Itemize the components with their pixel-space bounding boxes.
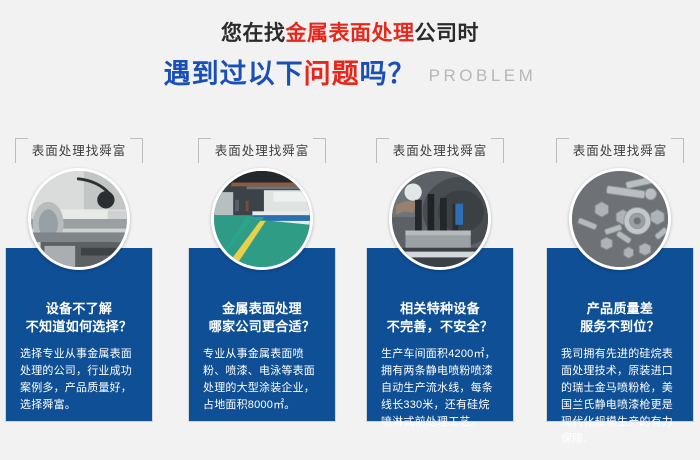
header-line1-prefix: 您在找 (221, 22, 286, 45)
card-title-line2: 不知道如何选择？ (16, 318, 142, 336)
header-line2-highlight: 问题 (304, 59, 360, 89)
card-title-line2: 服务不到位？ (557, 318, 683, 336)
bracket-label-text: 表面处理找舜富 (550, 142, 690, 160)
header-title-line2: 遇到过以下问题吗？PROBLEM (0, 57, 700, 93)
card-title-line1: 产品质量差 (557, 300, 683, 318)
bracket-label-text: 表面处理找舜富 (192, 142, 332, 160)
card-panel: 相关特种设备 不完善，不安全？ 生产车间面积4200㎡，拥有两条静电喷粉喷漆自动… (366, 248, 514, 422)
card-body-text: 专业从事金属表面喷粉、喷漆、电泳等表面处理的大型涂装企业，占地面积8000㎡。 (199, 346, 325, 414)
bracket-label-text: 表面处理找舜富 (9, 142, 149, 160)
card-title-line1: 相关特种设备 (377, 300, 503, 318)
problem-cards-row: 表面处理找舜富 设备不了解 不知道如何选择？ 选择专业从事金属表面处理的公司，行… (0, 136, 700, 436)
card-panel: 产品质量差 服务不到位？ 我司拥有先进的硅烷表面处理技术，原装进口的瑞士金马喷粉… (546, 248, 694, 422)
factory-workshop-image (214, 171, 310, 267)
card-title-line1: 金属表面处理 (199, 300, 325, 318)
metal-parts-fixture-image (392, 171, 488, 267)
card-body-text: 生产车间面积4200㎡，拥有两条静电喷粉喷漆自动生产流水线，每条线长330米，还… (377, 346, 503, 431)
card-title-line2: 不完善，不安全？ (377, 318, 503, 336)
card-body-text: 我司拥有先进的硅烷表面处理技术，原装进口的瑞士金马喷粉枪，美国兰氏静电喷漆枪更是… (557, 346, 683, 448)
card-title: 设备不了解 不知道如何选择？ (16, 300, 142, 336)
card-title-line2: 哪家公司更合适？ (199, 318, 325, 336)
header-title-line1: 您在找金属表面处理公司时 (0, 20, 700, 48)
bracket-label: 表面处理找舜富 (9, 136, 149, 166)
card-title: 金属表面处理 哪家公司更合适？ (199, 300, 325, 336)
card-title: 产品质量差 服务不到位？ (557, 300, 683, 336)
bracket-label-text: 表面处理找舜富 (370, 142, 510, 160)
metal-parts-fixture-photo (389, 168, 491, 270)
problem-section-page: 您在找金属表面处理公司时 遇到过以下问题吗？PROBLEM 表面处理找舜富 设备… (0, 0, 700, 460)
card-title-line1: 设备不了解 (16, 300, 142, 318)
header-problem-label: PROBLEM (429, 66, 537, 85)
card-panel: 设备不了解 不知道如何选择？ 选择专业从事金属表面处理的公司，行业成功案例多，产… (5, 248, 153, 422)
card-title: 相关特种设备 不完善，不安全？ (377, 300, 503, 336)
problem-card[interactable]: 表面处理找舜富 设备不了解 不知道如何选择？ 选择专业从事金属表面处理的公司，行… (5, 136, 153, 426)
lathe-machining-image (31, 171, 127, 267)
factory-workshop-photo (211, 168, 313, 270)
header-line1-highlight: 金属表面处理 (286, 22, 415, 45)
bolts-nuts-photo (569, 168, 671, 270)
header-line1-suffix: 公司时 (415, 22, 480, 45)
problem-card[interactable]: 表面处理找舜富 金属表面处理 哪家公司更合适？ 专业从事金属表面喷粉、喷漆、电泳… (188, 136, 336, 426)
problem-card[interactable]: 表面处理找舜富 相关特种设备 不完善，不安全？ 生产车间面积4200㎡，拥有两条… (366, 136, 514, 426)
header-line2-prefix: 遇到过以下 (164, 59, 304, 89)
bolts-nuts-image (572, 171, 668, 267)
bracket-label: 表面处理找舜富 (370, 136, 510, 166)
section-header: 您在找金属表面处理公司时 遇到过以下问题吗？PROBLEM (0, 0, 700, 93)
bracket-label: 表面处理找舜富 (550, 136, 690, 166)
problem-card[interactable]: 表面处理找舜富 产品质量差 服务不到位？ 我司拥有先进的硅烷表面处理技术，原装进… (546, 136, 694, 426)
card-body-text: 选择专业从事金属表面处理的公司，行业成功案例多，产品质量好，选择舜富。 (16, 346, 142, 414)
card-panel: 金属表面处理 哪家公司更合适？ 专业从事金属表面喷粉、喷漆、电泳等表面处理的大型… (188, 248, 336, 422)
header-line2-suffix: 吗？ (360, 59, 416, 89)
bracket-label: 表面处理找舜富 (192, 136, 332, 166)
lathe-machining-photo (28, 168, 130, 270)
